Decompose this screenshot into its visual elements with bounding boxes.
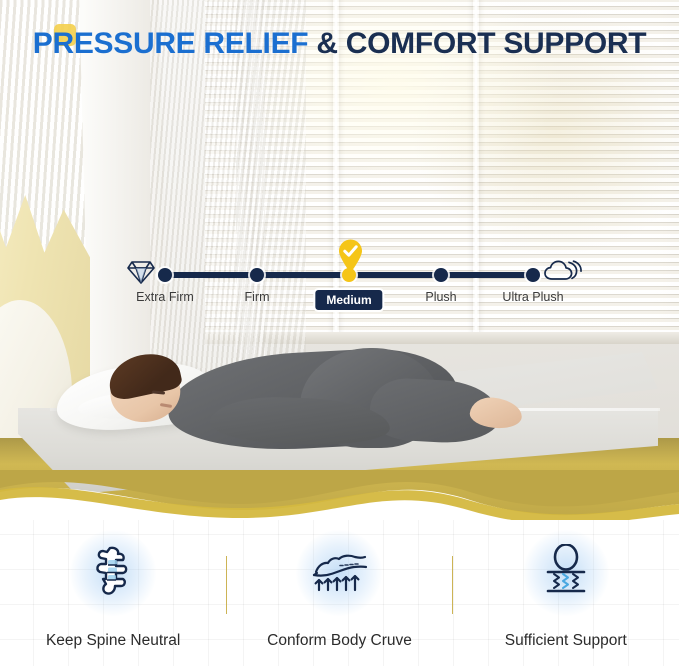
feature-item-conform-body-cruve: Conform Body Cruve — [226, 540, 452, 666]
firmness-node-ultra-plush[interactable] — [526, 268, 540, 282]
feature-item-sufficient-support: Sufficient Support — [453, 540, 679, 666]
firmness-label-medium-selected[interactable]: Medium — [313, 288, 384, 312]
page-title: PRESSURE RELIEF & COMFORT SUPPORT — [0, 27, 679, 61]
diamond-gem-icon — [126, 259, 156, 285]
firmness-node-extra-firm[interactable] — [158, 268, 172, 282]
gold-wave-divider — [0, 470, 679, 520]
feature-icon-glow — [68, 540, 158, 606]
feature-label: Keep Spine Neutral — [46, 632, 180, 650]
feature-label: Sufficient Support — [505, 632, 627, 650]
product-feature-poster: PRESSURE RELIEF & COMFORT SUPPORT — [0, 0, 679, 666]
feature-label: Conform Body Cruve — [267, 632, 412, 650]
firmness-label-extra-firm[interactable]: Extra Firm — [136, 290, 194, 304]
firmness-scale: Extra Firm Firm Medium Plush Ultra Plush — [0, 120, 679, 200]
feature-strip: Keep Spine Neutral — [0, 520, 679, 666]
check-pin-icon — [337, 238, 364, 274]
body-contour-arrows-icon — [310, 546, 368, 601]
firmness-label-ultra-plush[interactable]: Ultra Plush — [502, 290, 563, 304]
title-highlight-text: PRESSURE RELIEF — [33, 27, 309, 60]
firmness-label-firm[interactable]: Firm — [245, 290, 270, 304]
title-secondary-text: & COMFORT SUPPORT — [308, 27, 646, 60]
feature-icon-glow — [521, 540, 611, 606]
feature-list: Keep Spine Neutral — [0, 540, 679, 666]
spine-icon — [91, 545, 135, 602]
feature-icon-glow — [294, 540, 384, 606]
feature-item-keep-spine-neutral: Keep Spine Neutral — [0, 540, 226, 666]
weight-on-springs-icon — [542, 544, 590, 603]
firmness-label-plush[interactable]: Plush — [425, 290, 456, 304]
firmness-node-plush[interactable] — [434, 268, 448, 282]
firmness-node-firm[interactable] — [250, 268, 264, 282]
cloud-icon — [543, 258, 583, 286]
